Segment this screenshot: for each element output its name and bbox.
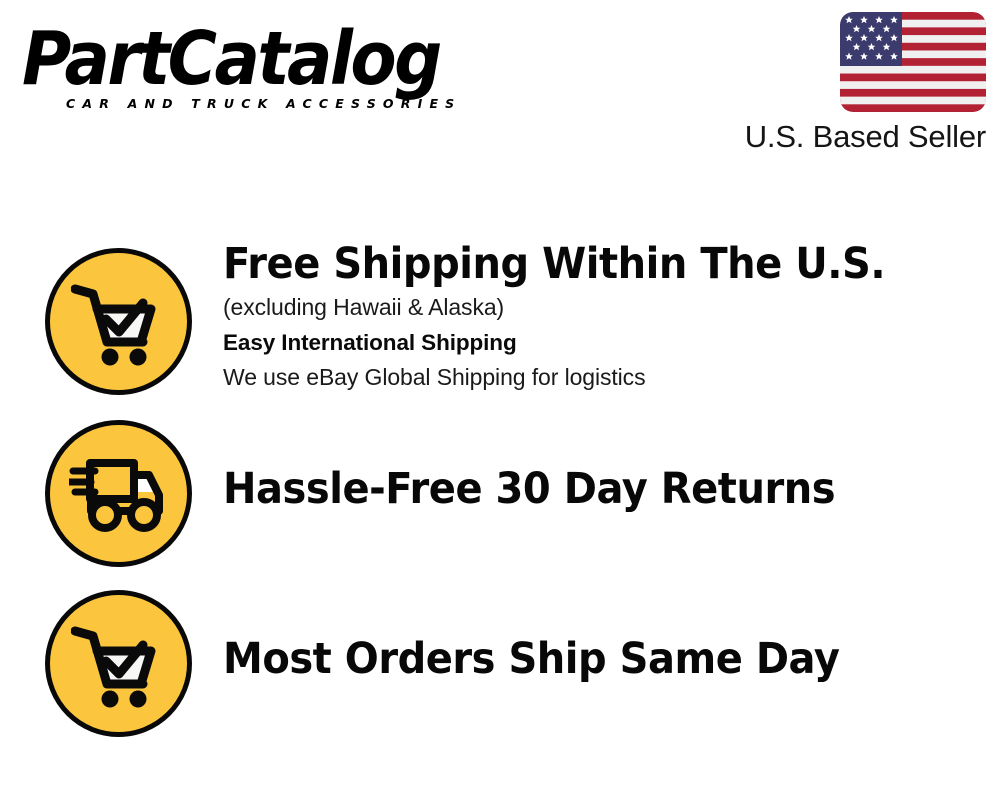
delivery-truck-icon	[45, 420, 192, 567]
feature-text-block: Free Shipping Within The U.S. (excluding…	[223, 238, 983, 394]
feature-subline: We use eBay Global Shipping for logistic…	[223, 360, 983, 394]
shipping-info-banner: PartCatalog CAR AND TRUCK ACCESSORIES	[0, 0, 1000, 800]
feature-headline: Hassle-Free 30 Day Returns	[223, 463, 930, 515]
shopping-cart-check-icon	[45, 590, 192, 737]
feature-subline-strong: Easy International Shipping	[223, 326, 983, 360]
feature-row: Most Orders Ship Same Day	[0, 590, 1000, 740]
feature-headline: Free Shipping Within The U.S.	[223, 238, 930, 290]
feature-headline: Most Orders Ship Same Day	[223, 633, 930, 685]
feature-subline: (excluding Hawaii & Alaska)	[223, 290, 983, 324]
feature-text-block: Most Orders Ship Same Day	[223, 633, 983, 685]
feature-row: Hassle-Free 30 Day Returns	[0, 420, 1000, 570]
shopping-cart-check-icon	[45, 248, 192, 395]
feature-list: Free Shipping Within The U.S. (excluding…	[0, 0, 1000, 800]
feature-text-block: Hassle-Free 30 Day Returns	[223, 463, 983, 515]
feature-row: Free Shipping Within The U.S. (excluding…	[0, 248, 1000, 398]
